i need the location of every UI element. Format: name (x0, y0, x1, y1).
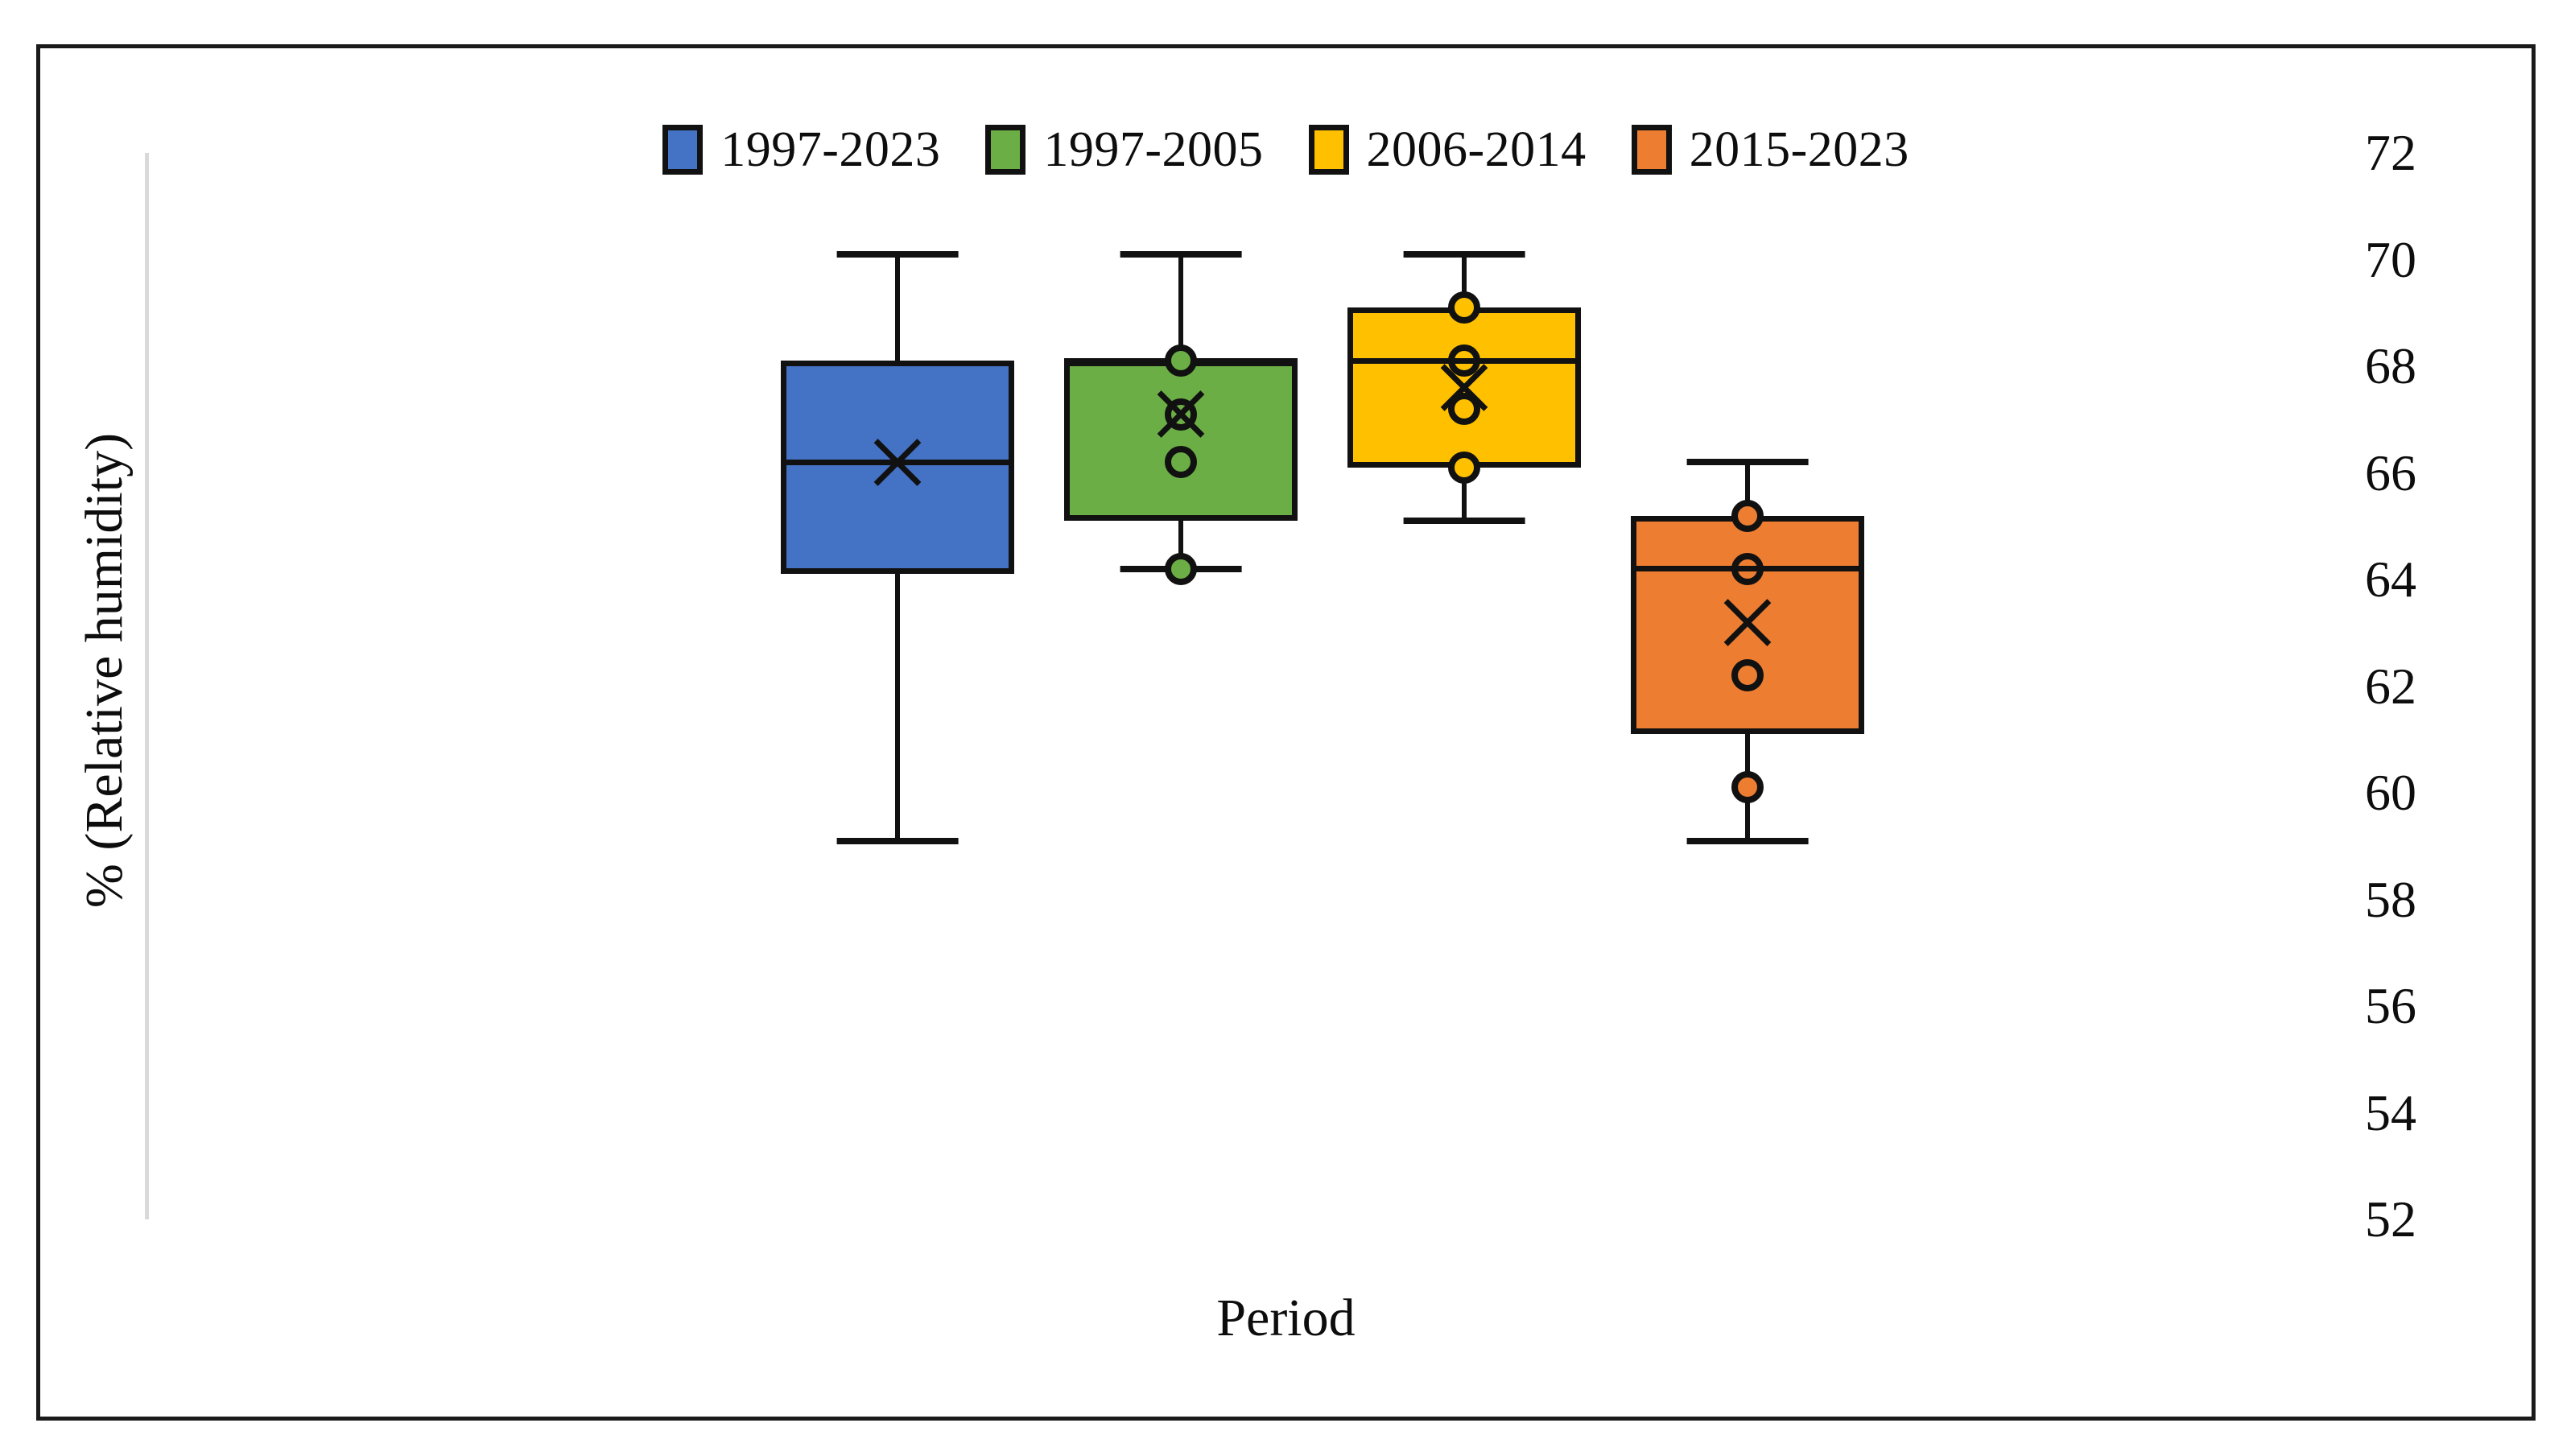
upper-whisker-line (895, 254, 900, 361)
box-2006-2014[interactable] (1347, 153, 1581, 1219)
y-axis-line (145, 153, 149, 1219)
mean-marker-icon (1150, 384, 1211, 445)
y-tick-62: 62 (2365, 661, 2416, 712)
data-point (1165, 344, 1197, 377)
data-point (1448, 291, 1480, 324)
y-tick-70: 70 (2365, 234, 2416, 286)
upper-whisker-cap (1120, 251, 1242, 258)
mean-marker-icon (1717, 592, 1778, 653)
lower-whisker-cap (837, 838, 959, 844)
y-tick-58: 58 (2365, 874, 2416, 926)
data-point (1165, 446, 1197, 478)
mean-marker-icon (867, 431, 928, 493)
plot-area: 7270686664626058565452 (145, 153, 2439, 1219)
y-tick-68: 68 (2365, 340, 2416, 392)
box-1997-2005[interactable] (1064, 153, 1298, 1219)
data-point (1731, 500, 1764, 532)
y-tick-56: 56 (2365, 980, 2416, 1032)
chart-figure: 1997-20231997-20052006-20142015-2023 % (… (36, 44, 2536, 1421)
data-point (1731, 553, 1764, 585)
box-2015-2023[interactable] (1631, 153, 1864, 1219)
y-tick-52: 52 (2365, 1194, 2416, 1245)
data-point (1165, 553, 1197, 585)
y-axis-title: % (Relative humidity) (74, 340, 135, 1000)
lower-whisker-cap (1687, 838, 1809, 844)
lower-whisker-line (895, 574, 900, 840)
y-tick-66: 66 (2365, 448, 2416, 499)
y-tick-54: 54 (2365, 1087, 2416, 1139)
lower-whisker-cap (1404, 518, 1525, 524)
mean-marker-icon (1434, 357, 1495, 419)
upper-whisker-cap (1404, 251, 1525, 258)
data-point (1731, 771, 1764, 803)
y-tick-64: 64 (2365, 554, 2416, 605)
data-point (1731, 659, 1764, 691)
upper-whisker-cap (837, 251, 959, 258)
box-1997-2023[interactable] (781, 153, 1014, 1219)
data-point (1448, 452, 1480, 484)
y-tick-72: 72 (2365, 127, 2416, 179)
y-tick-60: 60 (2365, 767, 2416, 819)
upper-whisker-cap (1687, 459, 1809, 465)
x-axis-title: Period (40, 1288, 2532, 1349)
